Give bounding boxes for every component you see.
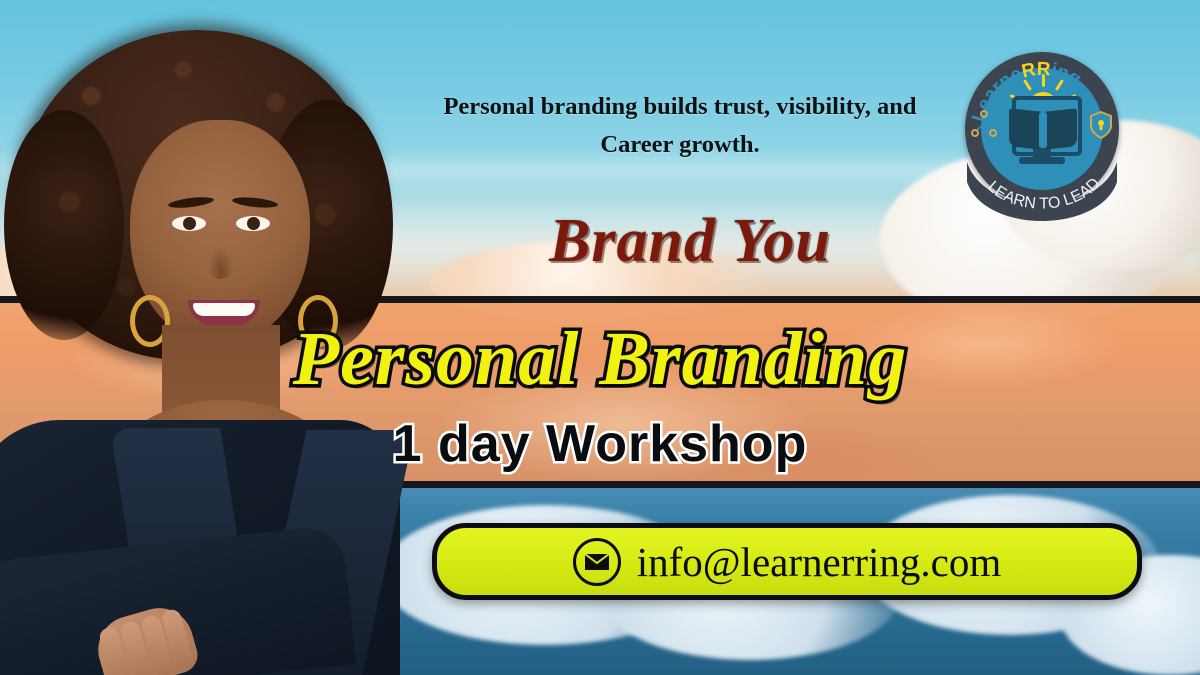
eyebrow-title: Brand You xyxy=(430,206,950,277)
email-address: info@learnerring.com xyxy=(637,538,1001,586)
brand-logo: LearneRRing xyxy=(957,52,1127,230)
email-contact-pill[interactable]: info@learnerring.com xyxy=(432,523,1142,600)
logo-name-part3: ing xyxy=(1049,60,1084,90)
tagline-line-1: Personal branding builds trust, visibili… xyxy=(380,88,980,126)
tagline: Personal branding builds trust, visibili… xyxy=(380,88,980,164)
page-title: Personal Branding xyxy=(0,316,1200,403)
eye-right xyxy=(236,216,270,231)
subtitle: 1 day Workshop xyxy=(0,414,1200,474)
tagline-line-2: Career growth. xyxy=(380,126,980,164)
open-book-icon xyxy=(1009,110,1077,148)
promotional-poster: Personal branding builds trust, visibili… xyxy=(0,0,1200,675)
network-nodes-icon xyxy=(971,110,997,140)
envelope-icon xyxy=(573,538,621,586)
nose xyxy=(208,245,234,279)
eye-left xyxy=(172,216,206,231)
shield-lock-icon xyxy=(1088,110,1114,140)
sun-ray xyxy=(1042,74,1045,87)
logo-ribbon: LEARN TO LEAD xyxy=(965,156,1119,230)
